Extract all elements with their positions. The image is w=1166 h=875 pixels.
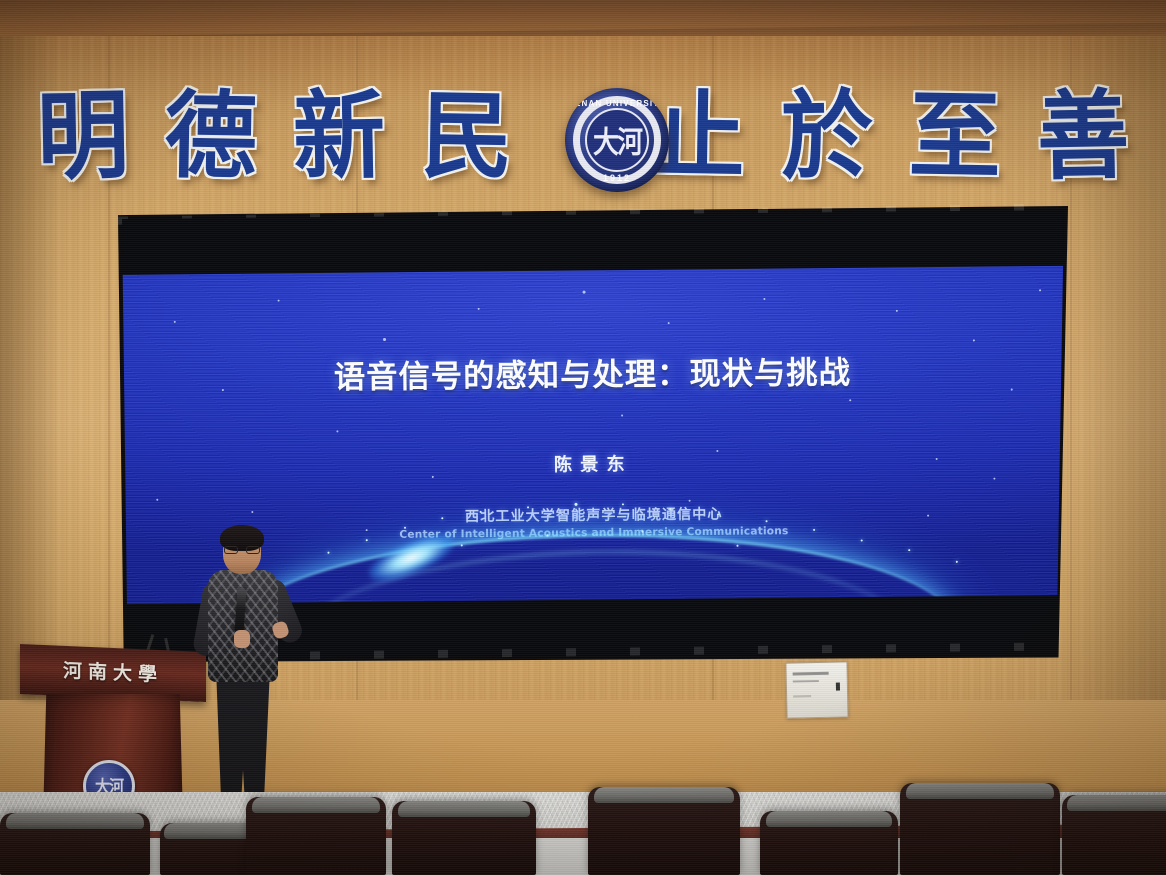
chair-headrest (906, 783, 1053, 799)
lectern-label: 河南大學 (20, 654, 206, 689)
audience-chair (588, 787, 740, 875)
wall-upper-band (0, 0, 1166, 40)
glasses-icon (224, 546, 260, 554)
chair-headrest (1067, 795, 1166, 811)
motto-char-4: 民 (420, 88, 514, 184)
placard-marker (836, 683, 840, 691)
motto-char-7: 至 (908, 88, 1002, 184)
lectern-top: 河南大學 (20, 644, 206, 702)
audience-chair (760, 811, 898, 875)
emblem-center: 大河 (585, 108, 649, 172)
placard-line (793, 695, 811, 697)
motto-char-2: 德 (164, 88, 258, 184)
placard-line (793, 680, 819, 683)
emblem-arc-top-text: HENAN UNIVERSITY (565, 99, 669, 108)
emblem-year: 1912 (565, 173, 669, 183)
placard-line (793, 672, 829, 676)
emblem-center-mark: 大河 (593, 119, 641, 162)
lecture-hall-photo: 明 德 新 民 止 於 至 善 HENAN UNIVERSITY 大河 1912 (0, 0, 1166, 875)
audience-chair (0, 813, 150, 875)
chair-headrest (398, 801, 530, 817)
slide-title: 语音信号的感知与处理：现状与挑战 (122, 345, 1064, 400)
chair-headrest (252, 797, 381, 813)
chair-headrest (766, 811, 893, 827)
motto-char-1: 明 (36, 87, 130, 185)
motto-char-6: 於 (780, 87, 874, 185)
wall-placard (785, 661, 848, 718)
presenter-left-hand (234, 630, 250, 648)
motto-char-8: 善 (1036, 87, 1130, 185)
chair-headrest (6, 813, 144, 829)
audience-chair (246, 797, 386, 875)
henan-university-emblem: HENAN UNIVERSITY 大河 1912 (565, 88, 669, 192)
audience-chair (392, 801, 536, 875)
audience-chair (900, 783, 1060, 875)
audience-chair (1062, 795, 1166, 875)
chair-headrest (594, 787, 734, 803)
motto-char-3: 新 (292, 87, 386, 185)
